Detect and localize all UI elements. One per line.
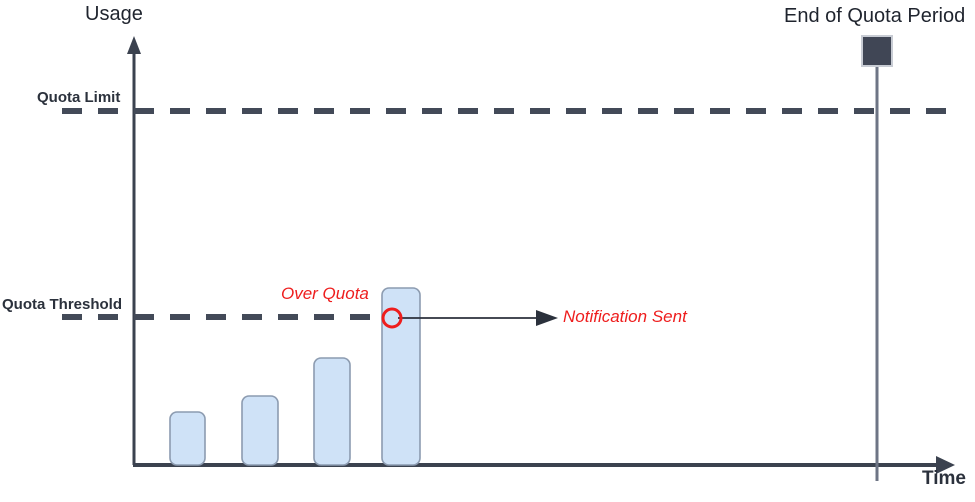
quota-threshold-label: Quota Threshold <box>2 296 122 313</box>
quota-limit-label: Quota Limit <box>37 89 120 106</box>
bar-1 <box>170 412 205 465</box>
over-quota-label: Over Quota <box>281 284 369 304</box>
y-axis <box>127 36 141 465</box>
x-axis-label: Time <box>922 468 966 490</box>
bar-2 <box>242 396 278 465</box>
y-axis-label: Usage <box>85 3 143 26</box>
diagram-vector-layer <box>0 0 975 502</box>
bar-3 <box>314 358 350 465</box>
notification-arrow <box>398 310 558 326</box>
end-marker-square-icon <box>862 36 892 66</box>
end-of-quota-period-label: End of Quota Period <box>784 5 965 28</box>
diagram-canvas: Usage Time Quota Limit Quota Threshold O… <box>0 0 975 502</box>
notification-sent-label: Notification Sent <box>563 307 687 327</box>
end-of-quota-period-marker <box>862 36 892 481</box>
